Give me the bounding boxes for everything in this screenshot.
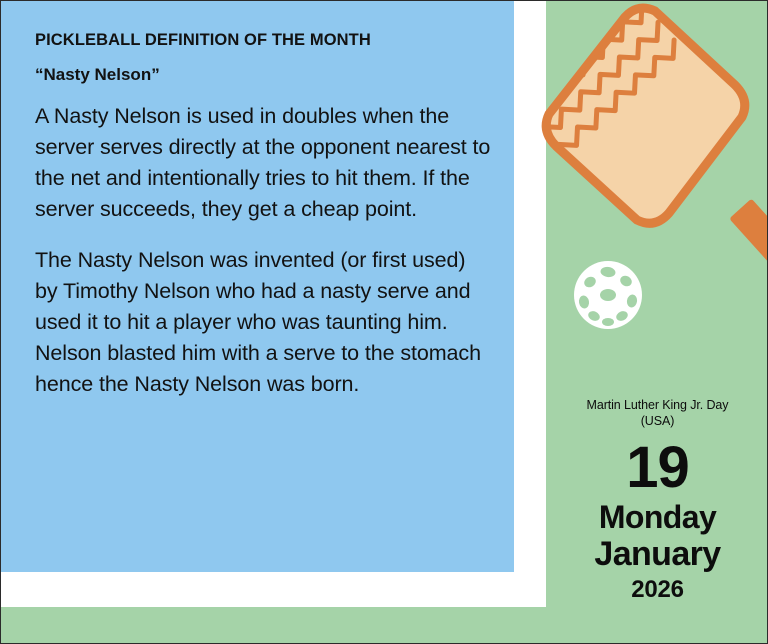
definition-paragraph-2: The Nasty Nelson was invented (or first … bbox=[35, 245, 492, 400]
definition-title: PICKLEBALL DEFINITION OF THE MONTH bbox=[35, 31, 492, 51]
holiday-label: Martin Luther King Jr. Day (USA) bbox=[574, 397, 741, 429]
date-block: Martin Luther King Jr. Day (USA) 19 Mond… bbox=[546, 397, 768, 605]
paddle-head bbox=[546, 8, 745, 223]
pickleball-paddle-icon bbox=[521, 0, 768, 291]
calendar-page: PICKLEBALL DEFINITION OF THE MONTH “Nast… bbox=[0, 0, 768, 644]
pickleball-wiffle-ball-icon bbox=[572, 259, 644, 331]
day-number: 19 bbox=[546, 439, 768, 497]
definition-subtitle: “Nasty Nelson” bbox=[35, 65, 492, 85]
paddle-handle bbox=[729, 199, 768, 290]
weekday-name: Monday bbox=[546, 499, 768, 535]
definition-paragraph-1: A Nasty Nelson is used in doubles when t… bbox=[35, 101, 492, 225]
month-name: January bbox=[546, 535, 768, 573]
definition-panel: PICKLEBALL DEFINITION OF THE MONTH “Nast… bbox=[1, 1, 514, 572]
year-number: 2026 bbox=[546, 575, 768, 605]
